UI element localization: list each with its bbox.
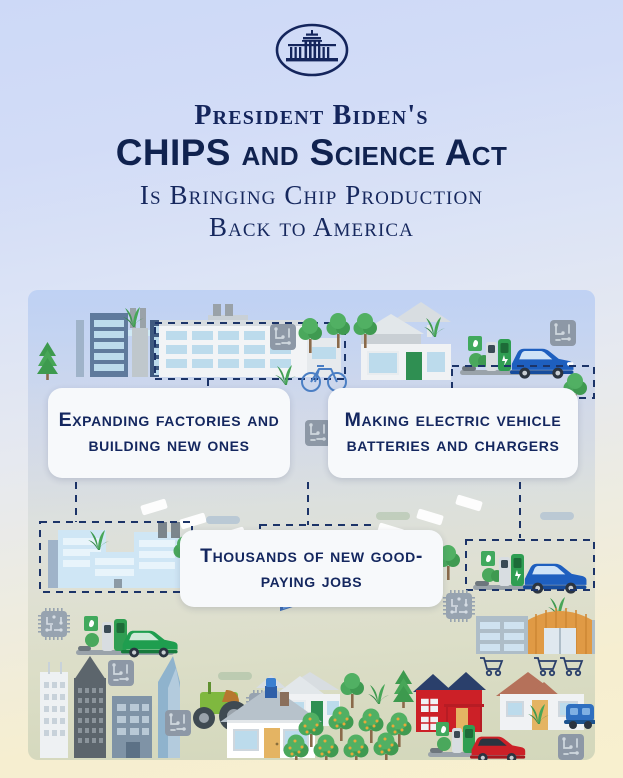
chip-icon <box>270 324 296 350</box>
callout-expanding-factories[interactable]: Expanding factories and building new one… <box>48 388 290 478</box>
pine-tree-icon <box>37 342 58 380</box>
callout-ev-batteries-chargers[interactable]: Making electric vehicle batteries and ch… <box>328 388 578 478</box>
infographic-scene <box>28 290 595 760</box>
callout-good-paying-jobs[interactable]: Thousands of new good-paying jobs <box>180 530 443 607</box>
chip-icon <box>443 590 475 622</box>
ev-charging-station-icon <box>473 551 586 594</box>
factory-building-icon <box>159 304 341 377</box>
chip-icon <box>558 734 584 760</box>
orchard-tree-icon <box>374 733 399 761</box>
callout-text: Thousands of new good-paying jobs <box>190 544 433 594</box>
shopping-center-icon <box>476 608 595 654</box>
title-line-2: CHIPS and Science Act <box>0 132 623 174</box>
shopping-cart-icon <box>534 658 556 675</box>
callout-text: Expanding factories and building new one… <box>56 408 282 458</box>
red-house-icon <box>413 672 486 732</box>
chip-icon <box>38 608 70 640</box>
callout-text: Making electric vehicle batteries and ch… <box>336 408 570 458</box>
cloud-pill-icon <box>206 512 574 524</box>
house-with-solar-panels-icon <box>358 290 451 380</box>
title-line-4: Back to America <box>0 211 623 243</box>
grass-tuft-icon <box>368 684 389 704</box>
cloud-pill-icon <box>218 672 252 680</box>
chip-icon <box>550 320 576 346</box>
shopping-cart-icon <box>480 658 502 675</box>
white-house-seal-icon <box>273 18 351 82</box>
orchard-tree-icon <box>344 735 369 761</box>
ev-charging-station-icon <box>76 616 178 657</box>
pine-tree-icon <box>393 670 414 708</box>
page-header: President Biden's CHIPS and Science Act … <box>0 0 623 243</box>
title-line-1: President Biden's <box>0 100 623 131</box>
red-sedan-icon <box>470 737 525 760</box>
chip-icon <box>165 710 191 736</box>
factory-building-icon <box>48 522 180 588</box>
page-title: President Biden's CHIPS and Science Act … <box>0 100 623 243</box>
bushtree-icon <box>341 673 365 708</box>
illustration-panel <box>28 290 595 760</box>
title-line-3: Is Bringing Chip Production <box>0 179 623 211</box>
shopping-cart-icon <box>560 658 582 675</box>
chip-icon <box>108 660 134 686</box>
orchard-tree-icon <box>314 735 339 761</box>
